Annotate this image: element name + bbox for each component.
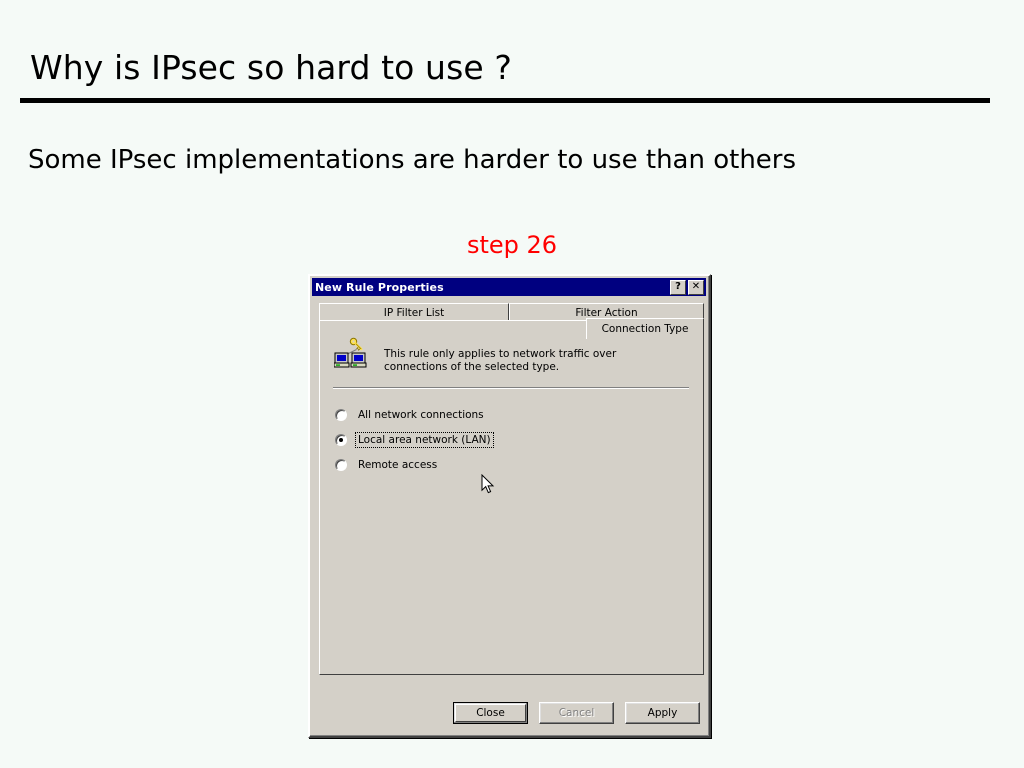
radio-indicator-selected-icon[interactable] <box>335 434 347 446</box>
connection-type-panel: This rule only applies to network traffi… <box>319 320 704 675</box>
dialog-inner-frame: New Rule Properties ? ✕ IP Filter List F… <box>310 276 709 736</box>
radio-label-local-area-network: Local area network (LAN) <box>356 433 493 447</box>
new-rule-properties-dialog: New Rule Properties ? ✕ IP Filter List F… <box>308 274 711 738</box>
panel-separator <box>333 387 689 389</box>
radio-label-all-network-connections: All network connections <box>356 408 486 422</box>
dialog-button-row: Close Cancel Apply <box>310 702 709 724</box>
dialog-title: New Rule Properties <box>315 281 668 294</box>
radio-local-area-network[interactable]: Local area network (LAN) <box>335 427 685 452</box>
page-title: Why is IPsec so hard to use ? <box>30 48 512 87</box>
dialog-titlebar[interactable]: New Rule Properties ? ✕ <box>312 278 706 296</box>
radio-indicator-icon[interactable] <box>335 459 347 471</box>
connection-type-radio-group: All network connections Local area netwo… <box>335 402 685 477</box>
radio-label-remote-access: Remote access <box>356 458 439 472</box>
close-icon[interactable]: ✕ <box>688 280 704 295</box>
tab-ip-filter-list[interactable]: IP Filter List <box>319 303 509 321</box>
cancel-button: Cancel <box>539 702 614 724</box>
step-label: step 26 <box>0 231 1024 259</box>
radio-indicator-icon[interactable] <box>335 409 347 421</box>
apply-button[interactable]: Apply <box>625 702 700 724</box>
radio-remote-access[interactable]: Remote access <box>335 452 685 477</box>
title-divider <box>20 98 990 103</box>
panel-description: This rule only applies to network traffi… <box>384 348 674 374</box>
tab-connection-type[interactable]: Connection Type <box>586 318 704 339</box>
radio-all-network-connections[interactable]: All network connections <box>335 402 685 427</box>
help-icon[interactable]: ? <box>670 280 686 295</box>
two-computers-with-key-icon <box>334 337 368 373</box>
close-button-label: Close <box>455 704 526 722</box>
slide-subtitle: Some IPsec implementations are harder to… <box>28 145 796 175</box>
close-button[interactable]: Close <box>453 702 528 724</box>
description-row: This rule only applies to network traffi… <box>334 337 684 374</box>
